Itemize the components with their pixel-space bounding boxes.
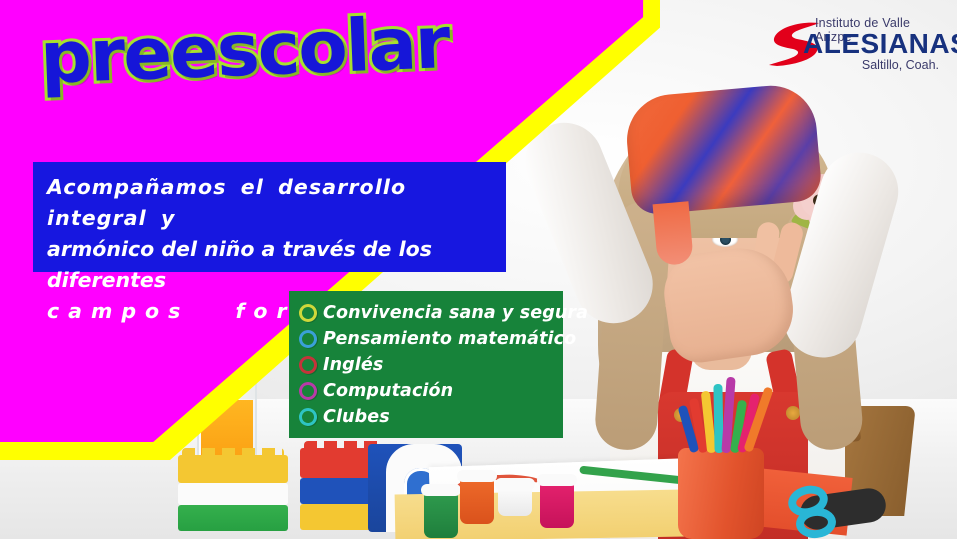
pen-cup — [678, 448, 764, 539]
ring-bullet-icon — [297, 328, 318, 349]
ring-bullet-icon — [297, 380, 318, 401]
ring-bullet-icon — [297, 406, 318, 427]
statement-line-2: armónico del niño a través de los difere… — [47, 234, 492, 296]
building-block-yellow — [178, 455, 288, 483]
page-title: preescolar — [39, 0, 450, 100]
statement-line-1: Acompañamos el desarrollo integral y — [47, 172, 492, 234]
program-list-item: Clubes — [299, 404, 553, 430]
program-list-item: Inglés — [299, 352, 553, 378]
ring-bullet-icon — [297, 354, 318, 375]
ring-bullet-icon — [297, 302, 318, 323]
building-block-green — [178, 505, 288, 531]
program-list-item-label: Clubes — [323, 407, 390, 427]
program-list-item: Convivencia sana y segura — [299, 300, 553, 326]
building-block-white — [178, 483, 288, 505]
painted-hand-on-head — [623, 82, 823, 216]
logo-main-line: ALESIANAS — [803, 28, 957, 60]
program-list-box: Convivencia sana y seguraPensamiento mat… — [289, 291, 563, 438]
program-list-item-label: Convivencia sana y segura — [323, 303, 588, 323]
paint-jar-lid — [457, 470, 497, 482]
paint-jar-orange — [460, 478, 494, 524]
overall-button-right — [786, 406, 800, 420]
paint-jar-lid — [537, 474, 577, 486]
program-list-item-label: Computación — [323, 381, 453, 401]
statement-box: Acompañamos el desarrollo integral y arm… — [33, 162, 506, 272]
program-list-item: Computación — [299, 378, 553, 404]
paint-jar-pink — [540, 482, 574, 528]
logo-city-line: Saltillo, Coah. — [862, 58, 939, 72]
paint-jar-green — [424, 492, 458, 538]
school-logo: Instituto de Valle Arizpe ALESIANAS Salt… — [767, 14, 943, 72]
promotional-poster: preescolar Instituto de Valle Arizpe ALE… — [0, 0, 957, 539]
paint-jar-white — [498, 486, 532, 516]
program-list-item: Pensamiento matemático — [299, 326, 553, 352]
paint-jar-lid — [495, 478, 535, 490]
paint-drip — [653, 201, 694, 266]
program-list-item-label: Pensamiento matemático — [323, 329, 576, 349]
paint-jar-lid — [421, 484, 461, 496]
block-studs — [182, 448, 284, 456]
program-list-item-label: Inglés — [323, 355, 383, 375]
